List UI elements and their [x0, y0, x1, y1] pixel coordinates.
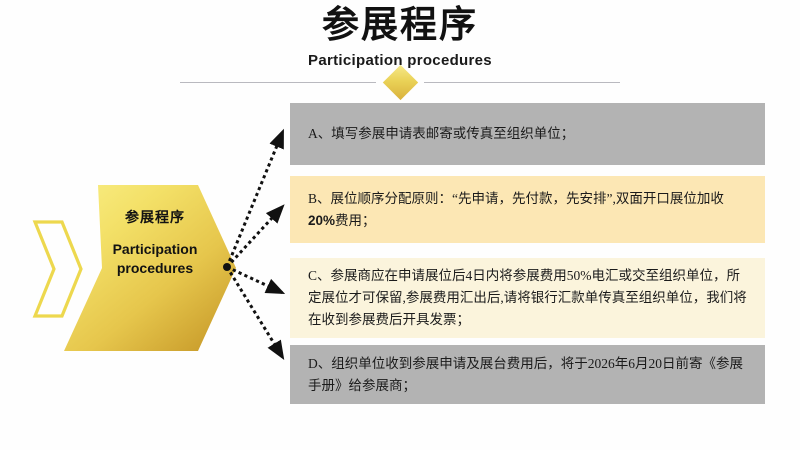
- chevron-badge: 参展程序 Participation procedures: [26, 185, 236, 353]
- step-box-c[interactable]: C、参展商应在申请展位后4日内将参展费用50%电汇或交至组织单位，所定展位才可保…: [290, 258, 765, 338]
- step-b-text: B、展位顺序分配原则：“先申请，先付款，先安排”,双面开口展位加收20%费用；: [308, 188, 749, 232]
- title-block: 参展程序 Participation procedures: [0, 4, 800, 71]
- step-box-a[interactable]: A、填写参展申请表邮寄或传真至组织单位；: [290, 103, 765, 165]
- chevron-label: 参展程序 Participation procedures: [90, 209, 220, 278]
- chevron-label-cn: 参展程序: [90, 209, 220, 228]
- step-box-b[interactable]: B、展位顺序分配原则：“先申请，先付款，先安排”,双面开口展位加收20%费用；: [290, 176, 765, 243]
- step-a-text: A、填写参展申请表邮寄或传真至组织单位；: [308, 123, 749, 145]
- step-b-emphasis: 20%: [308, 213, 335, 228]
- chevron-label-en-line2: procedures: [90, 259, 220, 278]
- step-c-text: C、参展商应在申请展位后4日内将参展费用50%电汇或交至组织单位，所定展位才可保…: [308, 265, 749, 331]
- title-divider: [180, 74, 620, 92]
- slide-canvas: 参展程序 Participation procedures 参展程序: [0, 0, 800, 450]
- chevron-label-en: Participation procedures: [90, 240, 220, 278]
- step-b-text-before: B、展位顺序分配原则：“先申请，先付款，先安排”,双面开口展位加收: [308, 191, 724, 206]
- divider-rule-left: [180, 82, 376, 83]
- divider-rule-right: [424, 82, 620, 83]
- step-box-d[interactable]: D、组织单位收到参展申请及展台费用后，将于2026年6月20日前寄《参展手册》给…: [290, 345, 765, 404]
- step-b-text-after: 费用；: [335, 213, 376, 228]
- step-d-text: D、组织单位收到参展申请及展台费用后，将于2026年6月20日前寄《参展手册》给…: [308, 353, 749, 397]
- chevron-label-en-line1: Participation: [90, 240, 220, 259]
- page-title-cn: 参展程序: [0, 4, 800, 48]
